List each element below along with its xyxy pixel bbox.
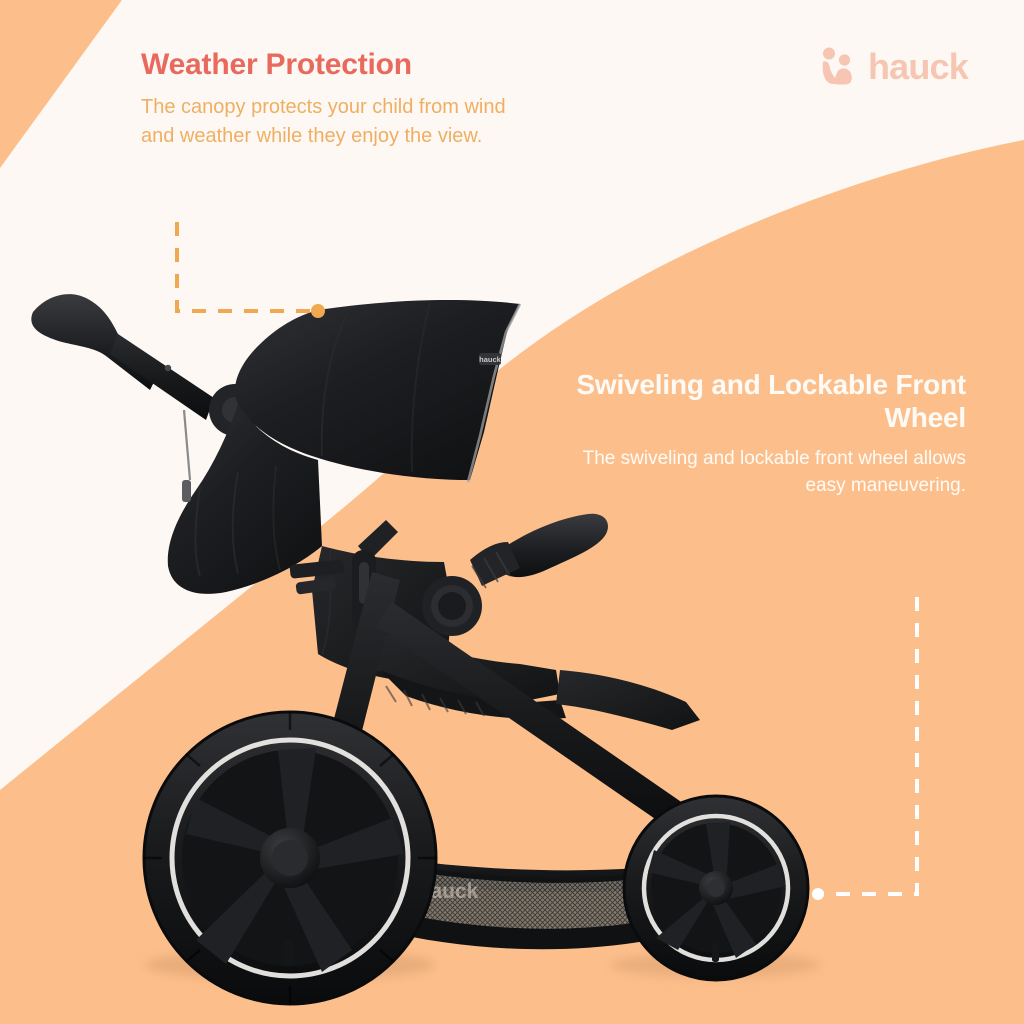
front-wheel-body: The swiveling and lockable front wheel a… — [546, 446, 966, 500]
front-swivel-wheel — [624, 796, 808, 980]
infographic-canvas: hauck — [0, 0, 1024, 1024]
svg-text:hauck: hauck — [479, 355, 502, 364]
weather-protection-title: Weather Protection — [141, 48, 521, 81]
bumper-bar — [470, 514, 608, 588]
hauck-wordmark: hauck — [868, 49, 968, 85]
canopy: hauck — [168, 300, 520, 594]
front-valve-stem — [712, 942, 719, 962]
hauck-parent-and-child-icon — [819, 46, 859, 88]
canopy-hauck-badge: hauck — [479, 353, 502, 365]
footrest — [556, 670, 700, 730]
weather-protection-callout: Weather Protection The canopy protects y… — [141, 48, 521, 151]
brand-logo: hauck — [819, 46, 968, 88]
rear-valve-stem — [284, 940, 293, 966]
front-wheel-callout: Swiveling and Lockable Front Wheel The s… — [546, 368, 966, 500]
rear-wheel — [144, 712, 436, 1004]
weather-protection-body: The canopy protects your child from wind… — [141, 93, 521, 151]
canopy-zipper — [182, 410, 191, 502]
front-wheel-title: Swiveling and Lockable Front Wheel — [546, 368, 966, 434]
product-image-stroller: hauck — [0, 250, 1024, 1024]
